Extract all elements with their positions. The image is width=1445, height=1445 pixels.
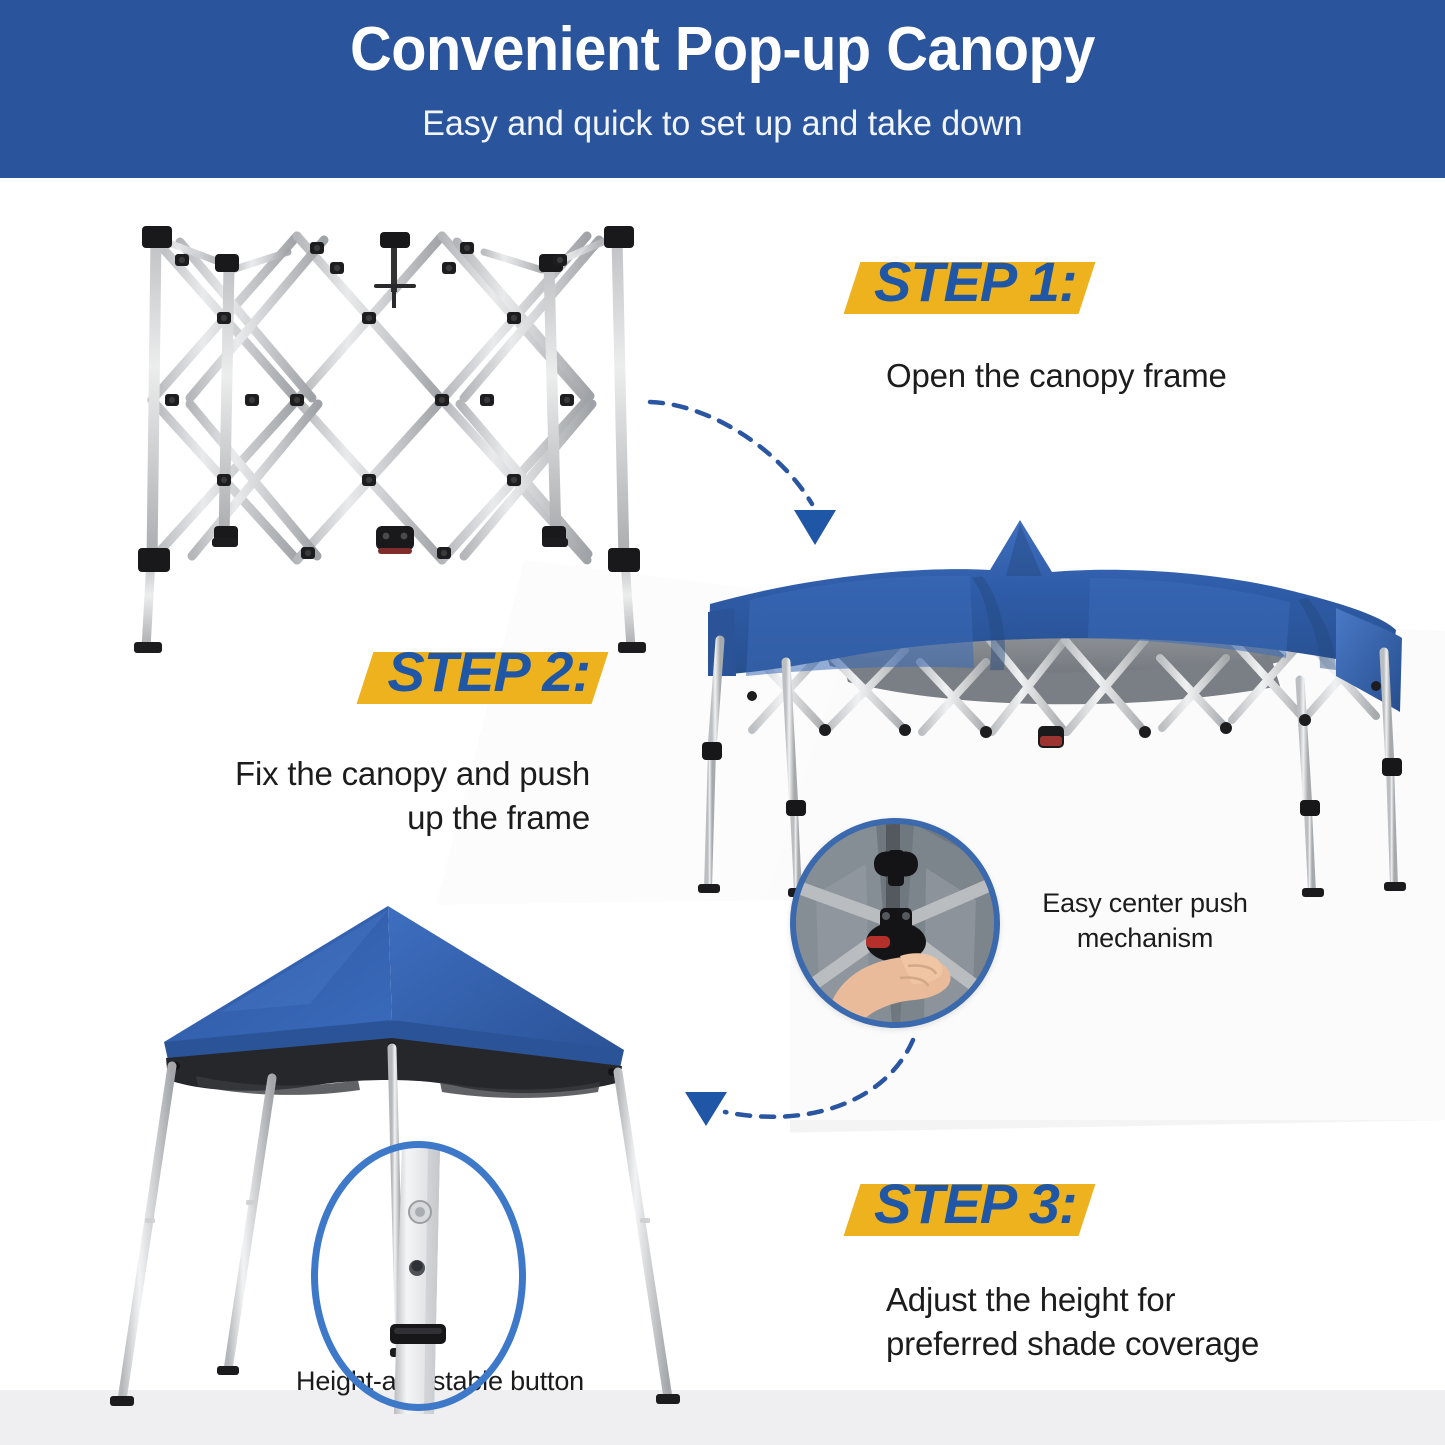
step-2-block: STEP 2: Fix the canopy and push up the f… bbox=[80, 636, 590, 839]
step-2-label: STEP 2: bbox=[365, 640, 590, 703]
infographic-canvas: Convenient Pop-up Canopy Easy and quick … bbox=[0, 0, 1445, 1445]
step-3-heading: STEP 3: bbox=[852, 1168, 1077, 1238]
step-2-description: Fix the canopy and push up the frame bbox=[80, 752, 590, 839]
arrow-step1-to-step2 bbox=[640, 380, 870, 555]
step-3-block: STEP 3: Adjust the height for preferred … bbox=[852, 1168, 1259, 1365]
illustration-collapsible-frame bbox=[112, 208, 672, 668]
step-1-heading: STEP 1: bbox=[852, 246, 1077, 316]
step-3-label: STEP 3: bbox=[852, 1172, 1077, 1235]
step-2-heading: STEP 2: bbox=[365, 636, 590, 706]
step-1-description: Open the canopy frame bbox=[886, 354, 1227, 398]
callout-center-push-label: Easy center push mechanism bbox=[1000, 886, 1290, 956]
step-1-block: STEP 1: Open the canopy frame bbox=[852, 246, 1227, 398]
step-3-description: Adjust the height for preferred shade co… bbox=[886, 1278, 1259, 1365]
page-title: Convenient Pop-up Canopy bbox=[350, 19, 1095, 81]
page-subtitle: Easy and quick to set up and take down bbox=[422, 106, 1022, 141]
arrow-step3-to-canopy bbox=[655, 1030, 925, 1165]
header-banner: Convenient Pop-up Canopy Easy and quick … bbox=[0, 0, 1445, 178]
inset-center-push-mechanism bbox=[790, 818, 1000, 1028]
step-1-label: STEP 1: bbox=[852, 250, 1077, 313]
inset-height-adjustable-button bbox=[311, 1141, 526, 1411]
